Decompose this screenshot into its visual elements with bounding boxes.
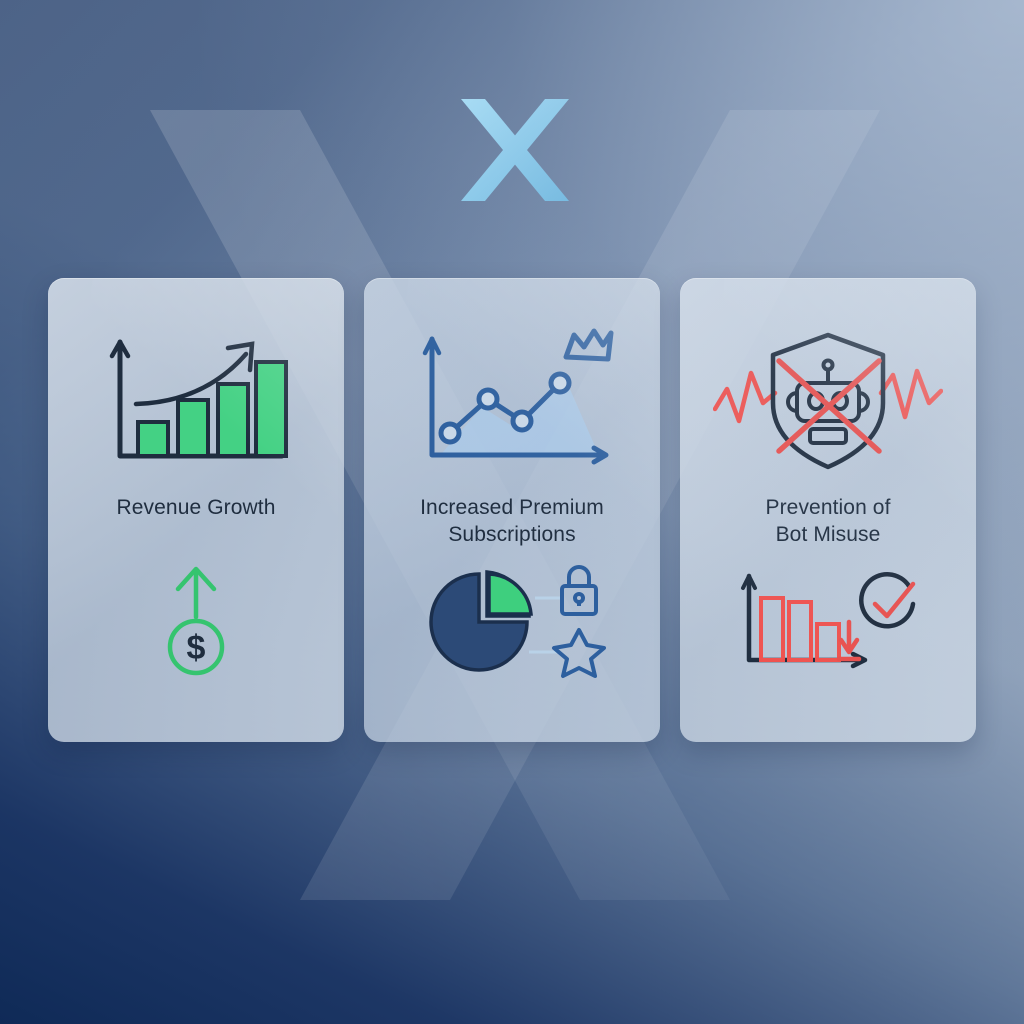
card-title-line: Prevention of [680,494,976,521]
card-title-line: Subscriptions [364,521,660,548]
shield-bot-blocked-icon [680,326,976,476]
card-title-line: Revenue Growth [48,494,344,521]
dollar-up-arrow-icon: $ [48,560,344,680]
growth-bar-chart-icon [48,326,344,476]
card-increased-premium-subscriptions[interactable]: Increased Premium Subscriptions [364,278,660,742]
card-title: Revenue Growth [48,494,344,521]
pie-chart-lock-star-icon [364,560,660,680]
card-prevention-of-bot-misuse[interactable]: Prevention of Bot Misuse [680,278,976,742]
card-row: Revenue Growth $ [0,278,1024,742]
card-revenue-growth[interactable]: Revenue Growth $ [48,278,344,742]
premium-line-chart-crown-icon [364,326,660,476]
svg-text:$: $ [187,629,206,667]
declining-bar-chart-check-icon [680,560,976,680]
card-title: Increased Premium Subscriptions [364,494,660,548]
x-logo-icon [455,95,575,205]
card-title-line: Bot Misuse [680,521,976,548]
poster-canvas: Revenue Growth $ [0,0,1024,1024]
card-title-line: Increased Premium [364,494,660,521]
card-title: Prevention of Bot Misuse [680,494,976,548]
